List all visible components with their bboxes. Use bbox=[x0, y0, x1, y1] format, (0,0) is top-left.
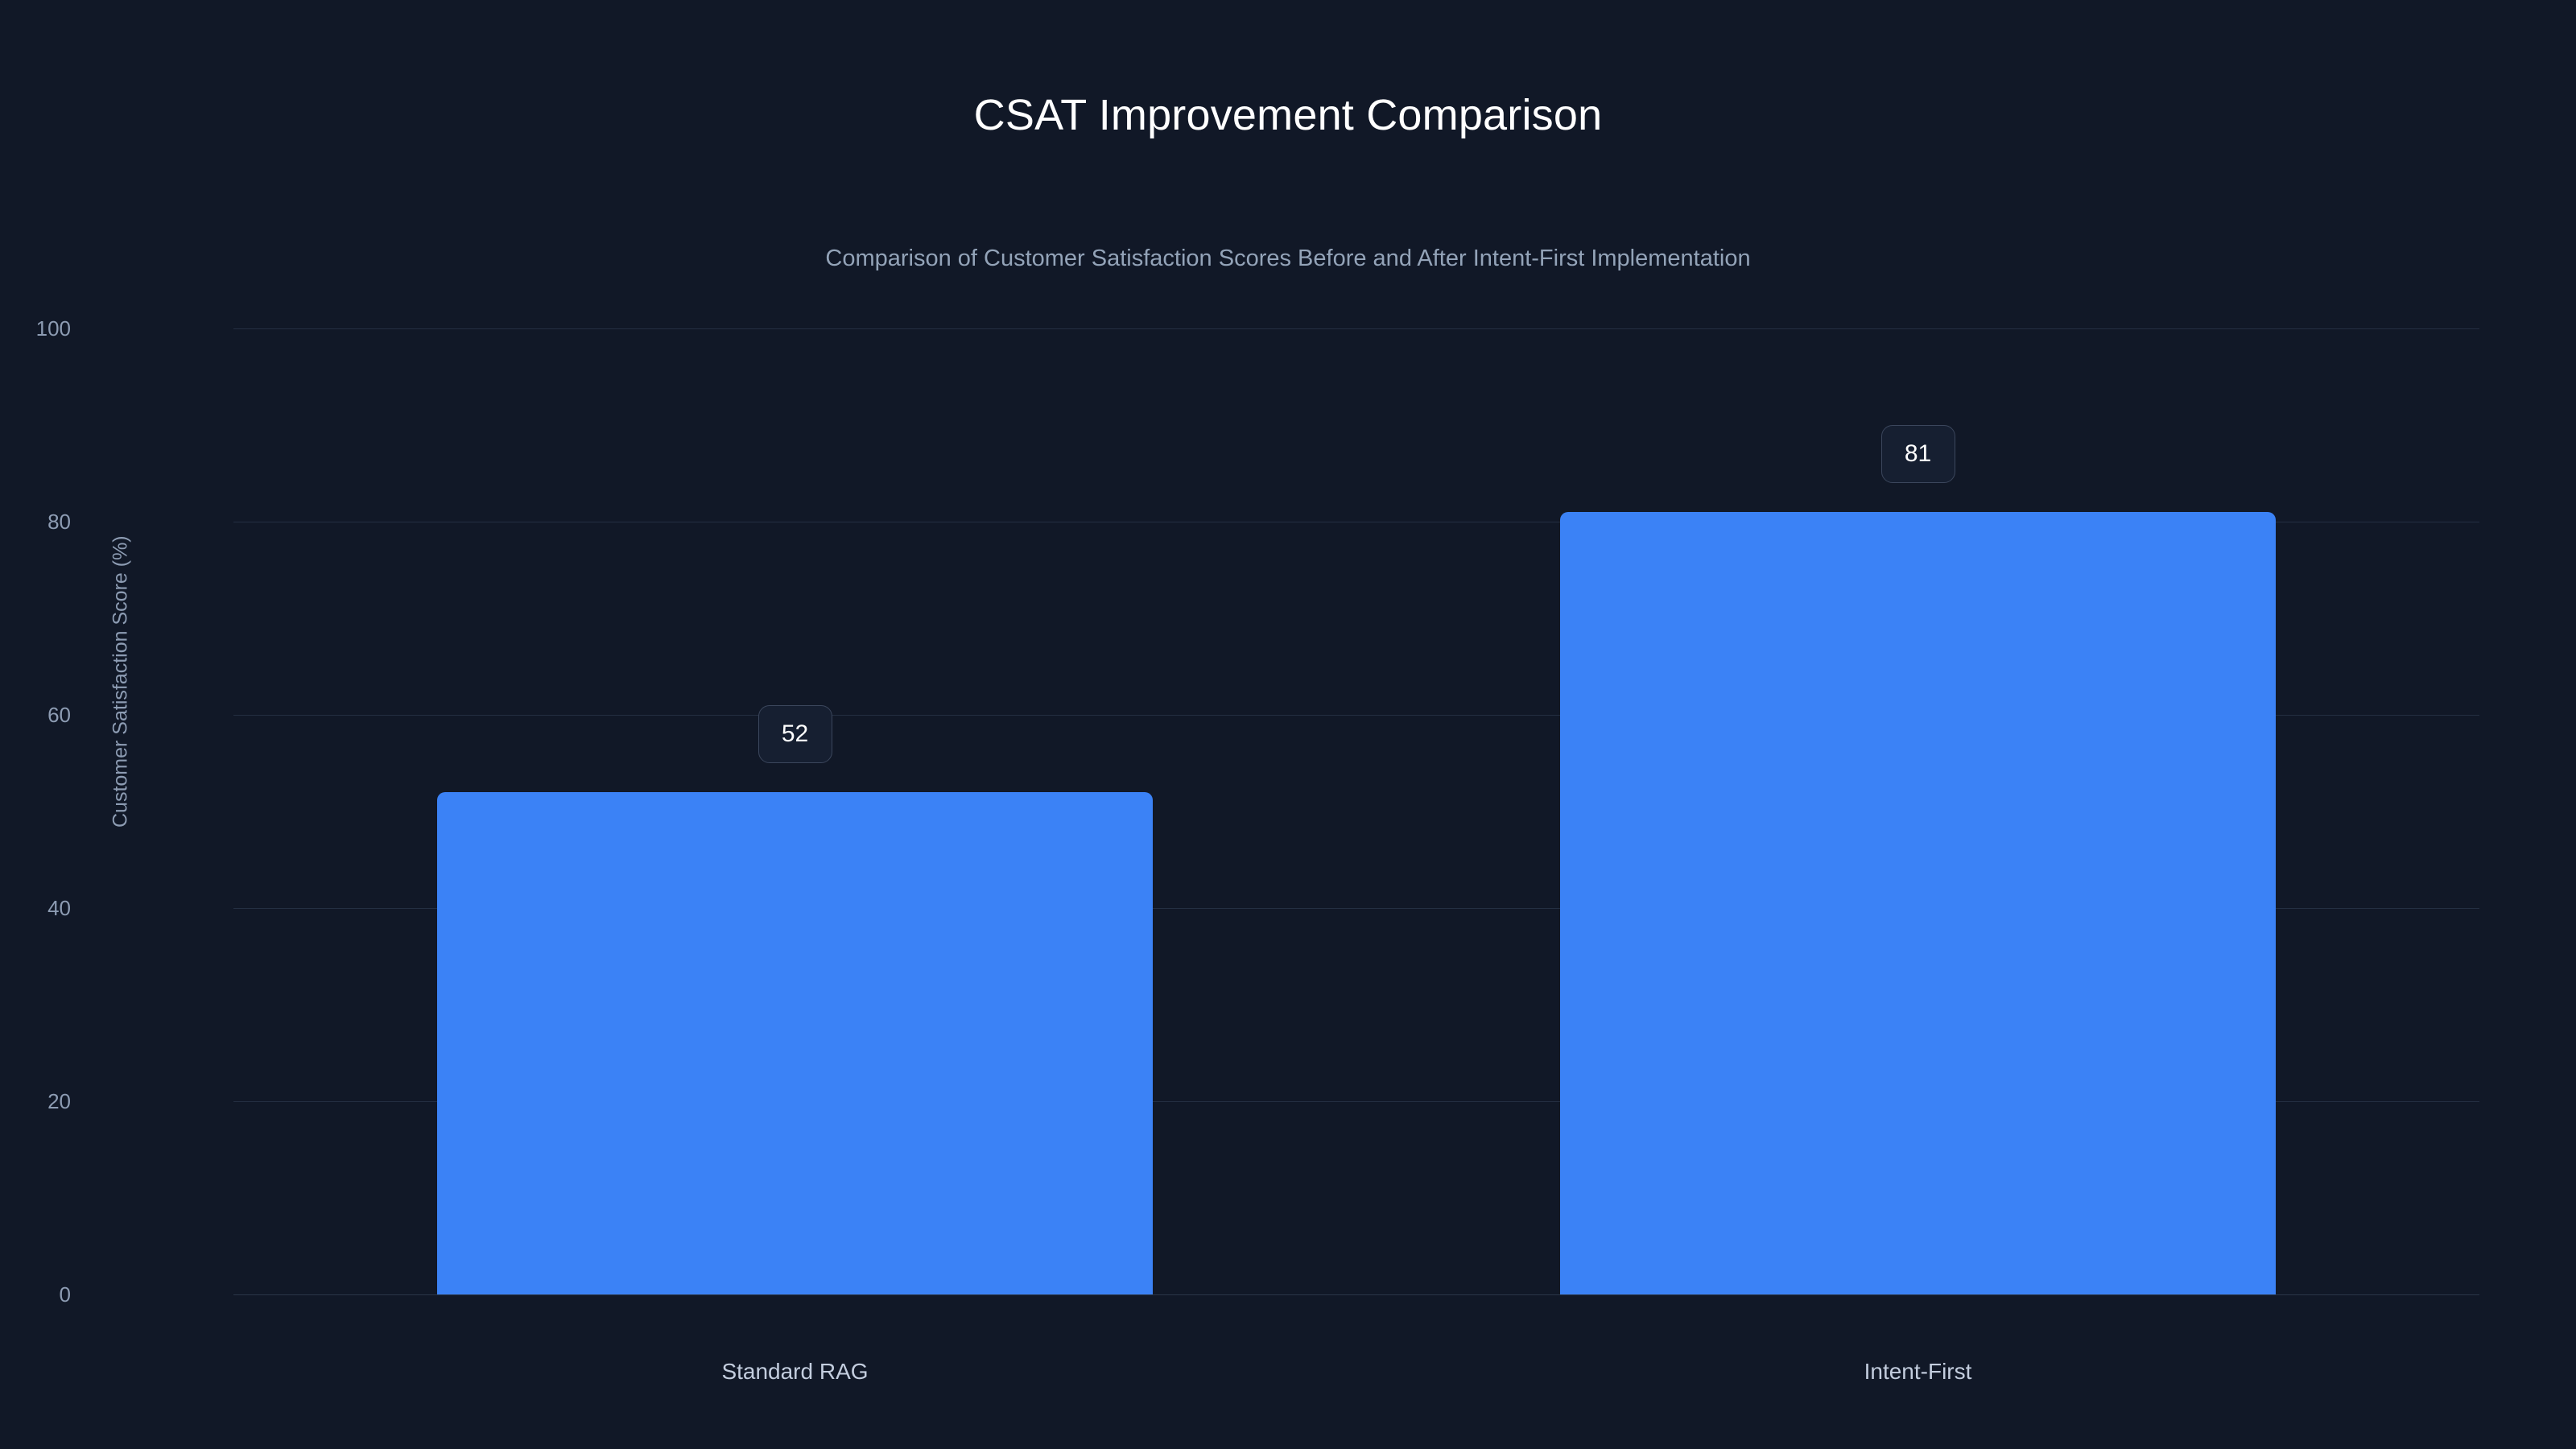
bar[interactable] bbox=[1560, 512, 2276, 1294]
chart-subtitle: Comparison of Customer Satisfaction Scor… bbox=[0, 245, 2576, 273]
y-tick-label-100: 100 bbox=[0, 318, 71, 339]
x-tick-label: Intent-First bbox=[1637, 1360, 2200, 1383]
x-tick-label: Standard RAG bbox=[514, 1360, 1077, 1383]
plot-area bbox=[233, 328, 2479, 1294]
gridline-0 bbox=[233, 1294, 2479, 1295]
bar-value-badge: 52 bbox=[758, 705, 832, 763]
y-tick-label-20: 20 bbox=[0, 1091, 71, 1112]
bar-chart-figure: CSAT Improvement Comparison Comparison o… bbox=[0, 0, 2576, 1449]
bar-value-badge: 81 bbox=[1881, 425, 1955, 483]
gridline-100 bbox=[233, 328, 2479, 329]
y-axis-title: Customer Satisfaction Score (%) bbox=[109, 795, 133, 828]
y-tick-label-80: 80 bbox=[0, 511, 71, 532]
y-tick-label-60: 60 bbox=[0, 704, 71, 725]
y-tick-label-40: 40 bbox=[0, 898, 71, 919]
bar[interactable] bbox=[437, 792, 1153, 1294]
y-tick-label-0: 0 bbox=[0, 1284, 71, 1305]
chart-title: CSAT Improvement Comparison bbox=[0, 90, 2576, 140]
